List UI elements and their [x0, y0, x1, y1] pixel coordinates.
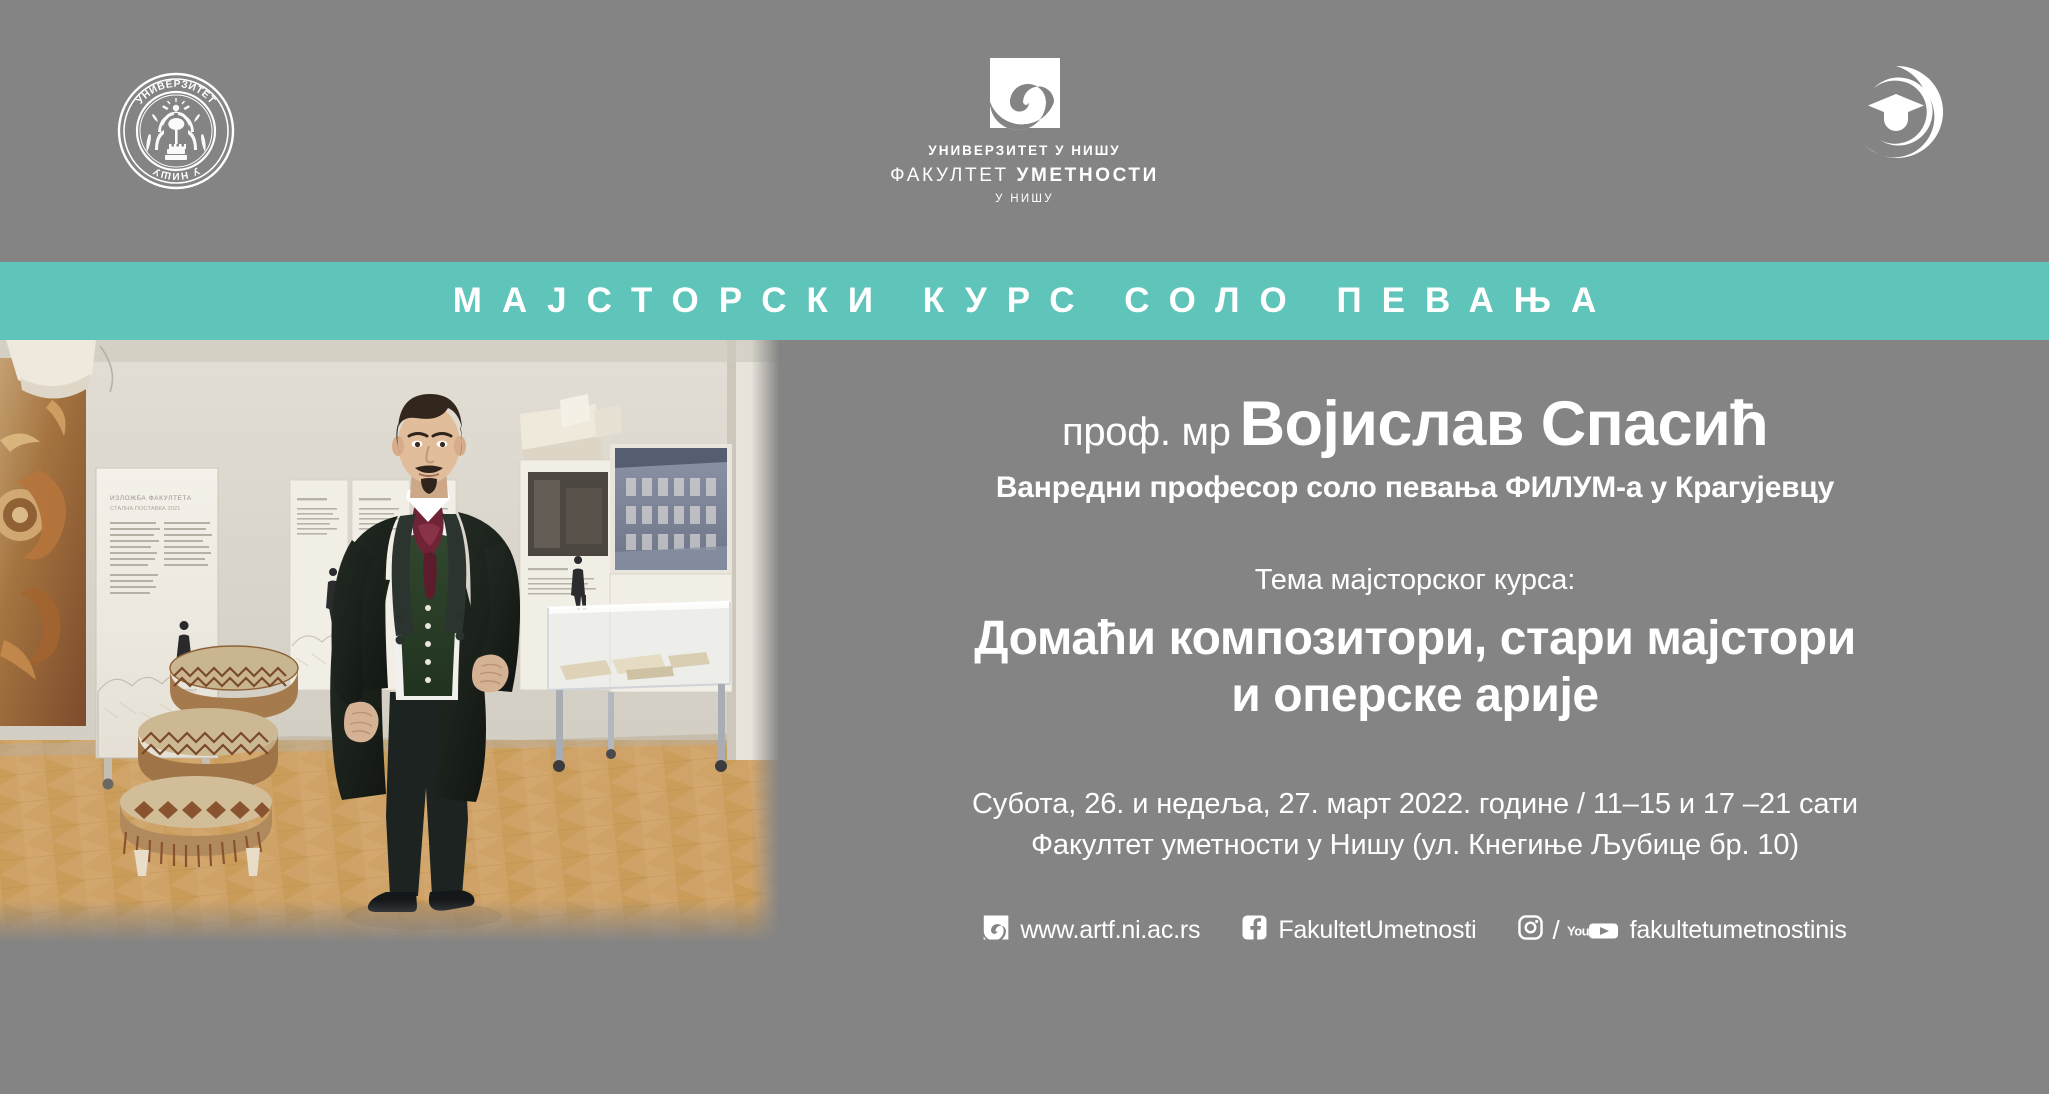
facebook-icon: [1242, 915, 1267, 945]
faculty-logo-line2-normal: ФАКУЛТЕТ: [890, 165, 1016, 186]
theme-title: Домаћи композитори, стари мајстори и опе…: [781, 611, 2049, 724]
faculty-logo-line2-bold: УМЕТНОСТИ: [1017, 165, 1159, 186]
youtube-icon: You: [1567, 920, 1619, 941]
event-venue: Факултет уметности у Нишу (ул. Кнегиње Љ…: [781, 825, 2049, 866]
faculty-logo-line3: У НИШУ: [815, 193, 1235, 206]
footer-instagram-label: fakultetumetnostinis: [1630, 916, 1847, 945]
speaker-subtitle: Ванредни професор соло певања ФИЛУМ-а у …: [781, 471, 2049, 504]
speaker-photo: ИЗЛОЖБА ФАКУЛТЕТА СТАЛНА ПОСТАВКА 2021: [0, 340, 781, 946]
poster-content: проф. мрВојислав Спасић Ванредни професо…: [781, 340, 2049, 1094]
graduation-cap-swirl-icon: [1848, 64, 1944, 160]
svg-text:You: You: [1567, 923, 1590, 938]
theme-title-line2: и оперске арије: [821, 668, 2009, 725]
instagram-icon: [1518, 915, 1543, 945]
speaker-name: Војислав Спасић: [1240, 389, 1768, 459]
faculty-of-arts-spiral-icon: [986, 56, 1064, 130]
footer-facebook[interactable]: FakultetUmetnosti: [1242, 915, 1476, 945]
theme-label: Тема мајсторског курса:: [781, 564, 2049, 597]
faculty-spiral-icon: [983, 915, 1009, 945]
speaker-name-row: проф. мрВојислав Спасић: [781, 393, 2049, 456]
speaker-photo-image: ИЗЛОЖБА ФАКУЛТЕТА СТАЛНА ПОСТАВКА 2021: [0, 340, 781, 946]
faculty-logo-line1: УНИВЕРЗИТЕТ У НИШУ: [815, 144, 1235, 159]
footer-website[interactable]: www.artf.ni.ac.rs: [983, 915, 1200, 945]
banner-title: МАЈСТОРСКИ КУРС СОЛО ПЕВАЊА: [433, 281, 1617, 321]
footer-separator: /: [1552, 915, 1559, 946]
university-of-nis-seal-icon: УНИВЕРЗИТЕТ У НИШУ: [117, 72, 235, 190]
poster-header: УНИВЕРЗИТЕТ У НИШУ: [0, 0, 2049, 262]
footer-website-label: www.artf.ni.ac.rs: [1020, 916, 1200, 945]
footer-contacts: www.artf.ni.ac.rs FakultetUmetnosti: [781, 915, 2049, 946]
event-datetime: Субота, 26. и недеља, 27. март 2022. год…: [781, 784, 2049, 825]
faculty-of-arts-logo: УНИВЕРЗИТЕТ У НИШУ ФАКУЛТЕТ УМЕТНОСТИ У …: [815, 56, 1235, 205]
event-details: Субота, 26. и недеља, 27. март 2022. год…: [781, 784, 2049, 866]
faculty-logo-line2: ФАКУЛТЕТ УМЕТНОСТИ: [815, 166, 1235, 187]
speaker-name-prefix: проф. мр: [1062, 410, 1231, 454]
course-banner: МАЈСТОРСКИ КУРС СОЛО ПЕВАЊА: [0, 262, 2049, 340]
theme-title-line1: Домаћи композитори, стари мајстори: [821, 611, 2009, 668]
footer-facebook-label: FakultetUmetnosti: [1278, 916, 1476, 945]
poster-root: УНИВЕРЗИТЕТ У НИШУ: [0, 0, 2049, 1094]
footer-instagram-youtube[interactable]: / You fakultetumetnostinis: [1518, 915, 1846, 946]
